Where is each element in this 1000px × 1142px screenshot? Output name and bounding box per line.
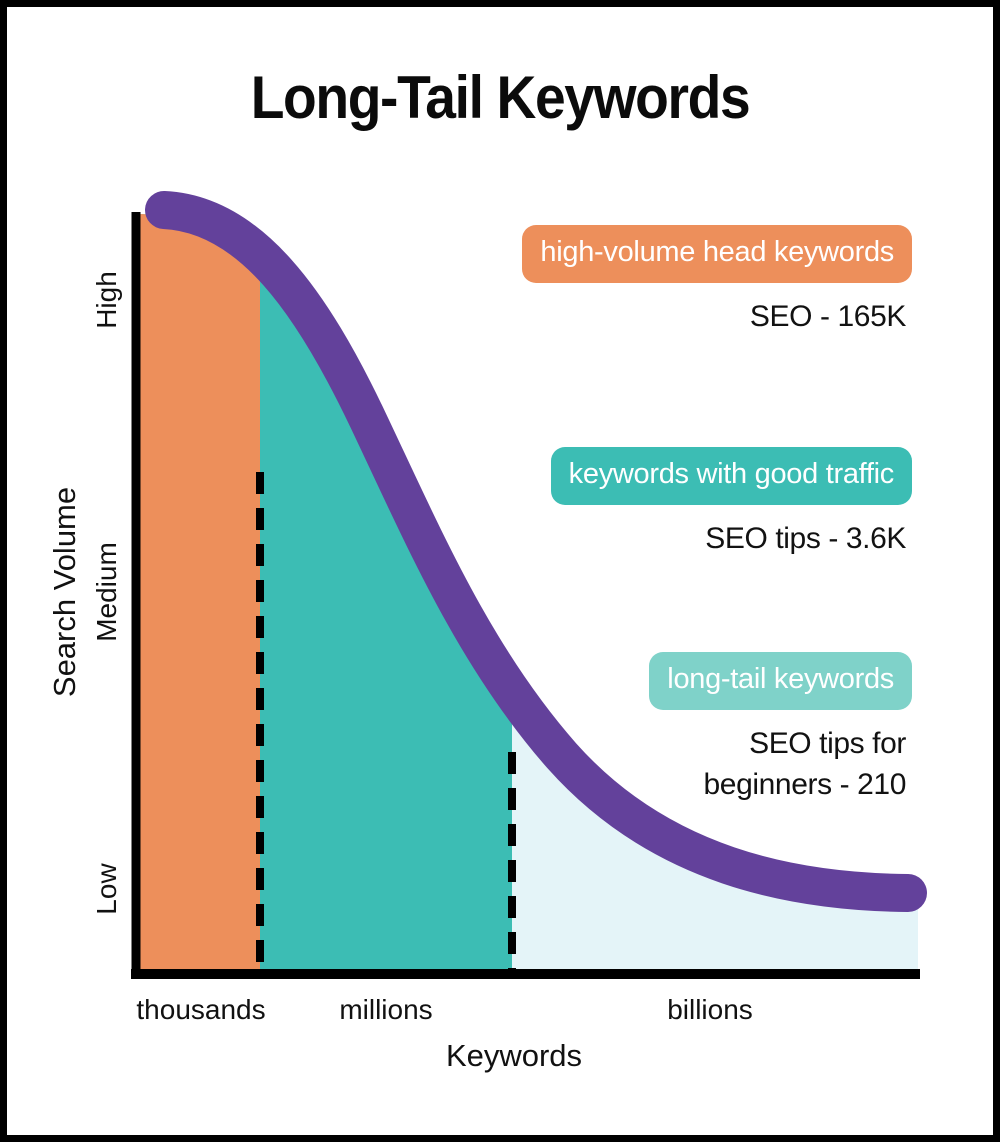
annotation-head-keywords: high-volume head keywords SEO - 165K [427,225,912,338]
detail-keywords-with-good-traffic: SEO tips - 3.6K [407,519,912,560]
annotation-long-tail: long-tail keywords SEO tips for beginner… [527,652,912,805]
x-tick-billions: billions [667,994,753,1025]
detail-high-volume-head-keywords: SEO - 165K [427,297,912,338]
annotation-good-traffic: keywords with good traffic SEO tips - 3.… [407,447,912,560]
label-high-volume-head-keywords: high-volume head keywords [522,225,912,283]
label-long-tail-keywords: long-tail keywords [649,652,912,710]
label-keywords-with-good-traffic: keywords with good traffic [551,447,912,505]
y-axis-title: Search Volume [47,487,82,697]
y-tick-low: Low [91,863,122,915]
y-tick-medium: Medium [91,542,122,642]
x-axis-title: Keywords [446,1038,582,1073]
x-tick-millions: millions [339,994,432,1025]
infographic-canvas: Long-Tail Keywords High Medium Low Searc… [0,0,1000,1142]
band-high-volume-head-keywords [136,200,260,975]
y-tick-high: High [91,271,122,329]
long-tail-keywords-chart: High Medium Low Search Volume thousands … [0,0,1000,1142]
x-tick-thousands: thousands [136,994,265,1025]
detail-long-tail-keywords: SEO tips for beginners - 210 [527,724,912,805]
